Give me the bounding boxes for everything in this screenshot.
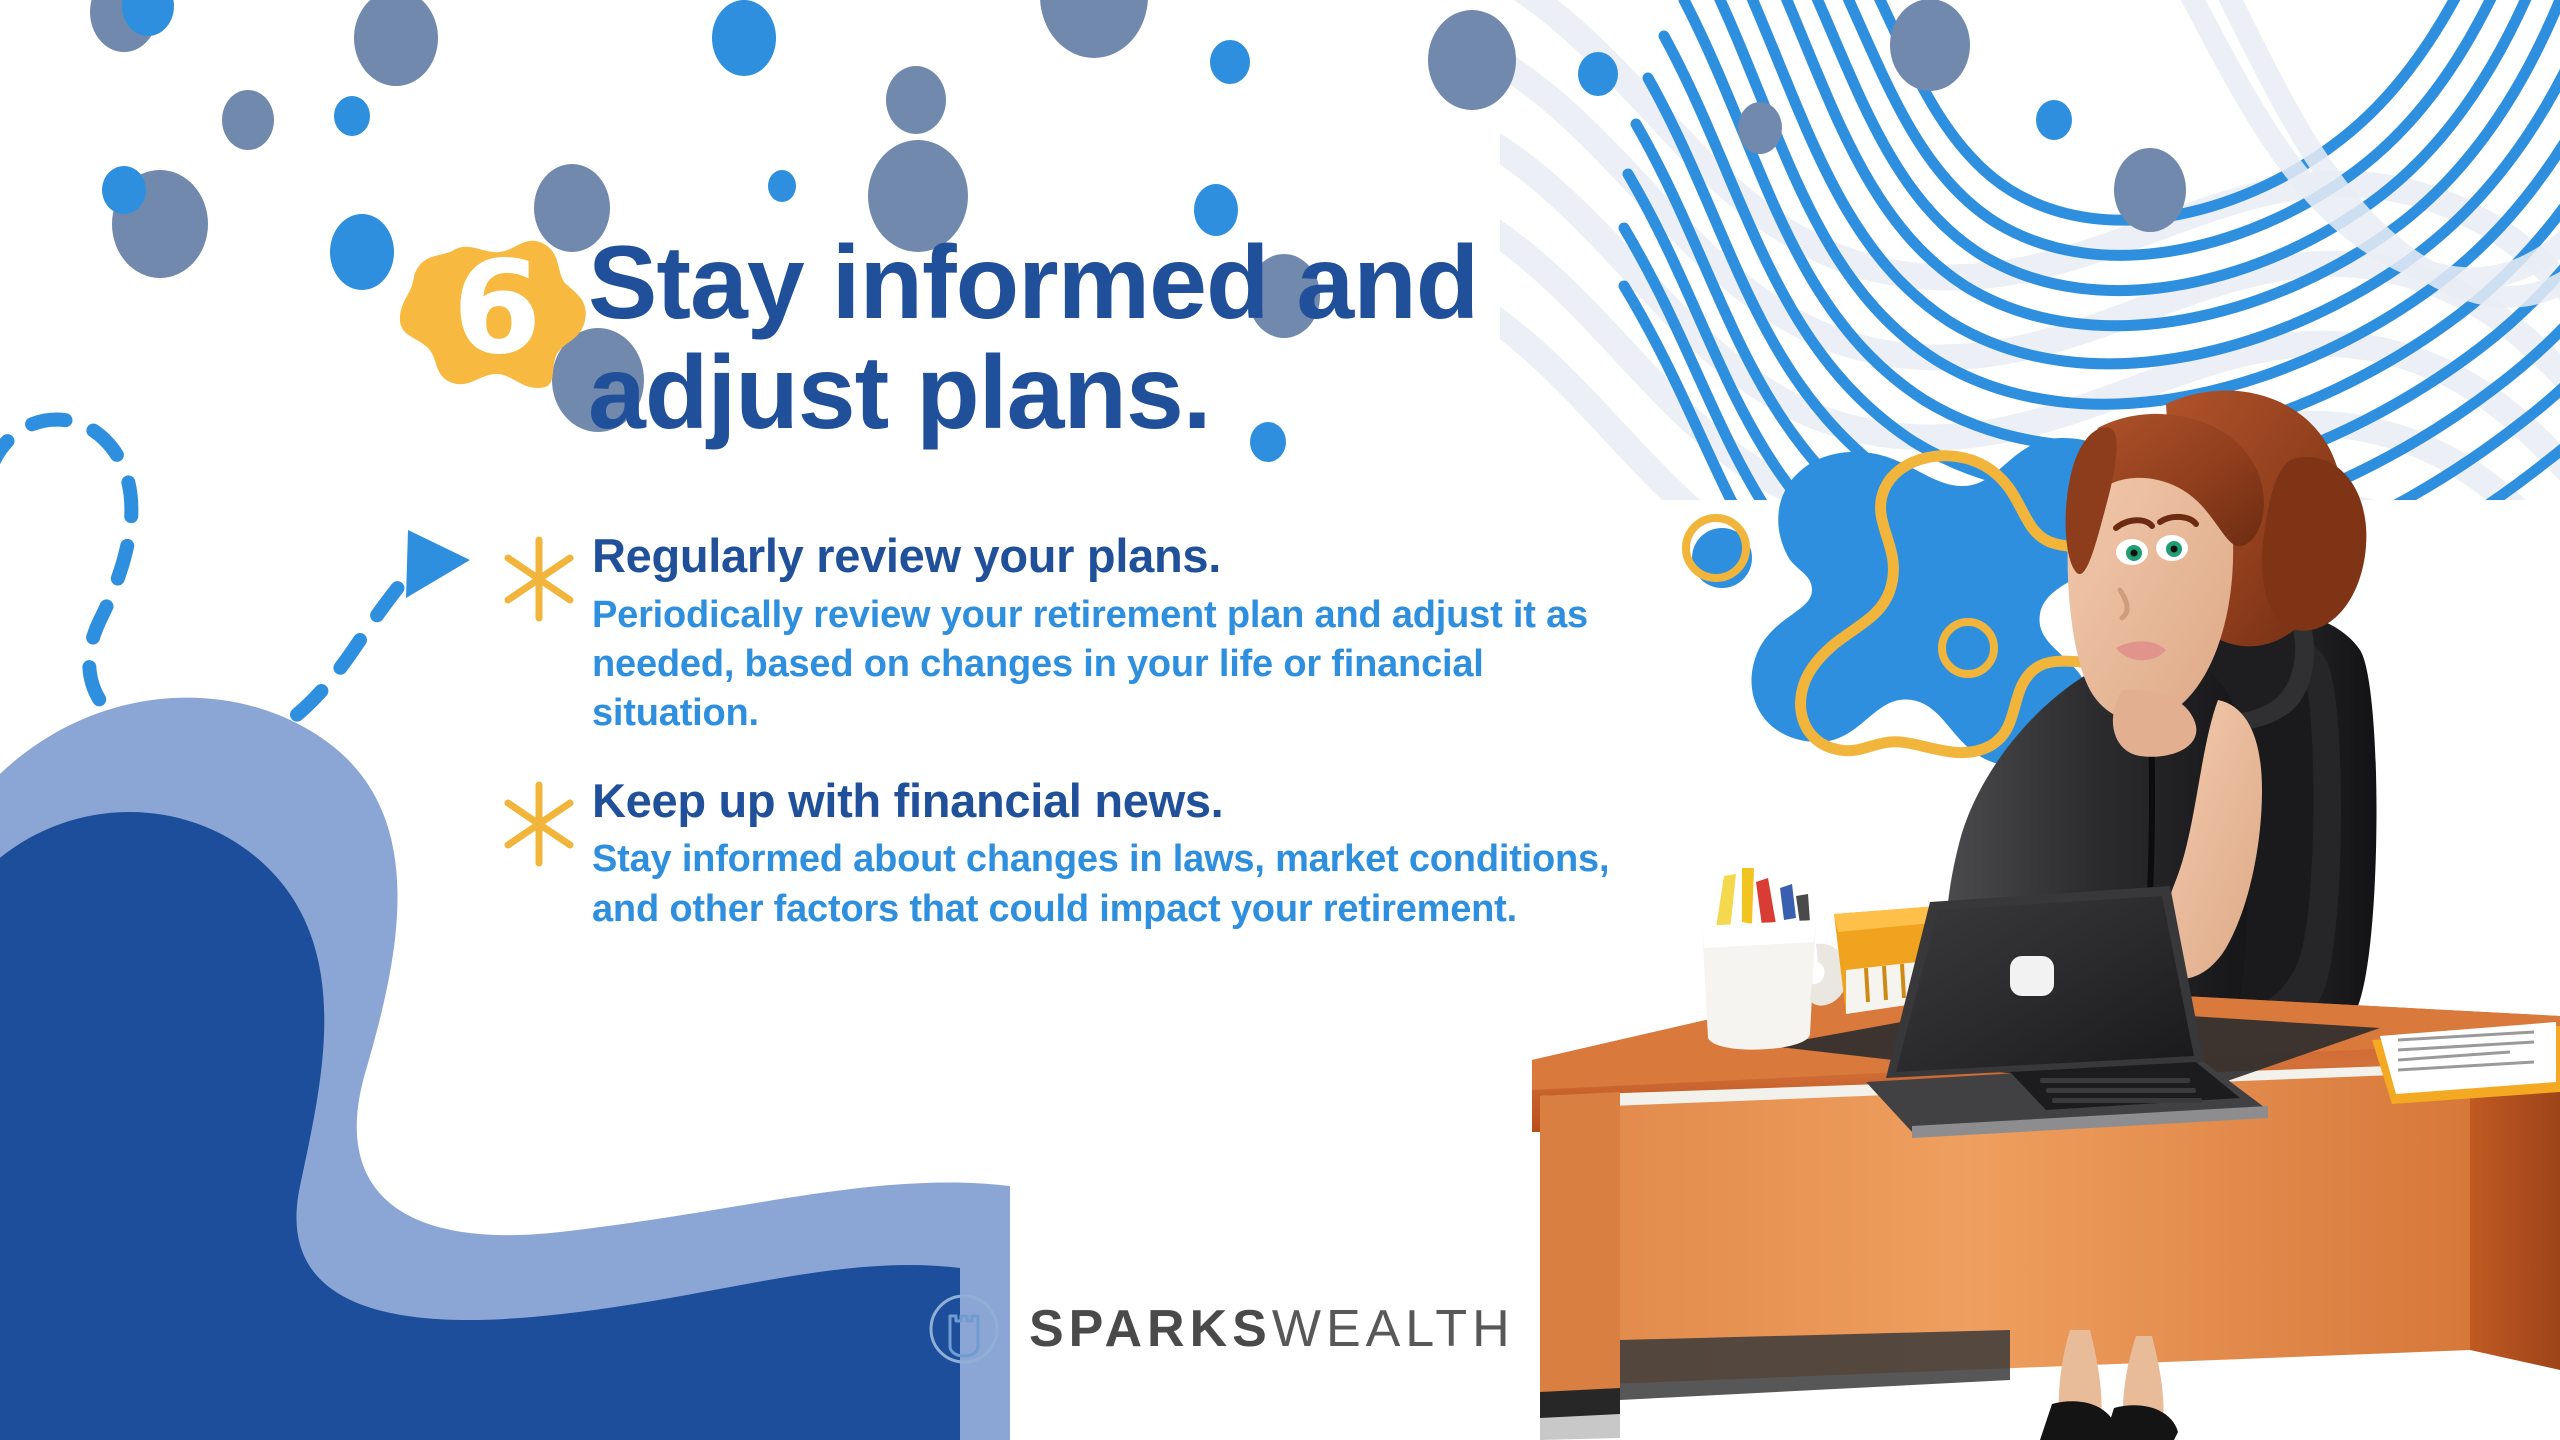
- castle-tower-in-circle-icon: [925, 1290, 1003, 1368]
- slide-canvas: 6 Stay informed and adjust plans. Regula…: [0, 0, 2560, 1440]
- brand-name-secondary: WEALTH: [1272, 1300, 1515, 1358]
- brand-name-primary: SPARKS: [1029, 1300, 1272, 1358]
- brand-name: SPARKSWEALTH: [1029, 1299, 1515, 1359]
- brand-logo[interactable]: SPARKSWEALTH: [925, 1290, 1515, 1368]
- businesswoman-at-desk-illustration: [0, 0, 2560, 1440]
